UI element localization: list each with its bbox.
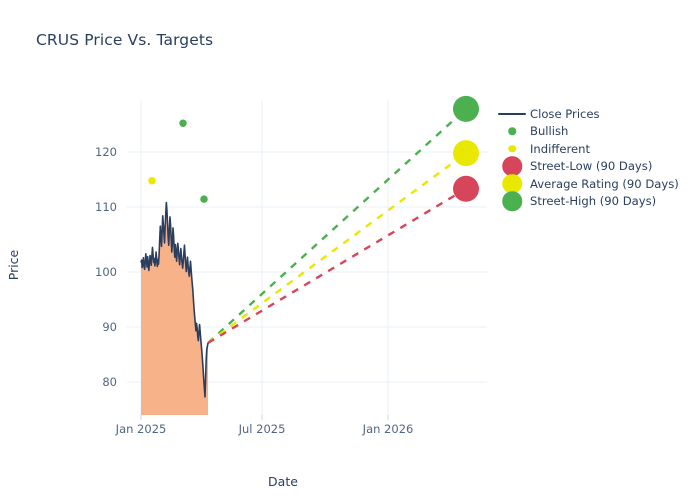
legend-dot-swatch-icon xyxy=(497,158,527,176)
rating-markers xyxy=(148,120,208,203)
dot-swatch-icon xyxy=(508,128,516,136)
legend-item-0[interactable]: Close Prices xyxy=(497,105,697,123)
y-tick-label: 110 xyxy=(95,200,117,214)
projection-lines xyxy=(208,109,466,343)
legend-dot-swatch-icon xyxy=(497,140,527,158)
legend-item-1[interactable]: Bullish xyxy=(497,123,697,141)
legend-item-label: Street-High (90 Days) xyxy=(527,194,656,208)
y-axis-label: Price xyxy=(6,249,21,280)
chart-container: CRUS Price Vs. Targets Jan 2025Jul 2025J… xyxy=(0,0,700,500)
legend-item-label: Average Rating (90 Days) xyxy=(527,177,679,191)
y-tick-label: 80 xyxy=(102,375,117,389)
legend-line-swatch-icon xyxy=(497,105,527,123)
legend-dot-swatch-icon xyxy=(497,175,527,193)
x-axis-ticks: Jan 2025Jul 2025Jan 2026 xyxy=(115,415,414,436)
legend-item-2[interactable]: Indifferent xyxy=(497,140,697,158)
line-swatch-icon xyxy=(498,113,526,115)
legend-item-label: Street-Low (90 Days) xyxy=(527,159,652,173)
y-axis-ticks: 8090100110120 xyxy=(95,145,117,389)
dot-swatch-icon xyxy=(508,145,516,153)
y-tick-label: 90 xyxy=(102,320,117,334)
close-price-area-fill xyxy=(141,203,208,415)
legend-item-label: Bullish xyxy=(527,124,568,138)
dot-swatch-icon xyxy=(502,192,522,212)
x-tick-label: Jan 2025 xyxy=(115,422,167,436)
x-axis-label: Date xyxy=(268,474,298,489)
y-tick-label: 120 xyxy=(95,145,117,159)
legend-item-label: Close Prices xyxy=(527,107,600,121)
legend-item-3[interactable]: Street-Low (90 Days) xyxy=(497,158,697,176)
legend-item-5[interactable]: Street-High (90 Days) xyxy=(497,193,697,211)
target-markers xyxy=(453,96,479,202)
x-tick-label: Jan 2026 xyxy=(362,422,414,436)
chart-legend: Close PricesBullishIndifferentStreet-Low… xyxy=(497,105,697,210)
x-tick-label: Jul 2025 xyxy=(238,422,286,436)
legend-dot-swatch-icon xyxy=(497,123,527,141)
plot-area: Jan 2025Jul 2025Jan 2026 8090100110120 D… xyxy=(0,0,700,500)
legend-item-4[interactable]: Average Rating (90 Days) xyxy=(497,175,697,193)
legend-dot-swatch-icon xyxy=(497,193,527,211)
legend-item-label: Indifferent xyxy=(527,142,590,156)
y-tick-label: 100 xyxy=(95,265,117,279)
